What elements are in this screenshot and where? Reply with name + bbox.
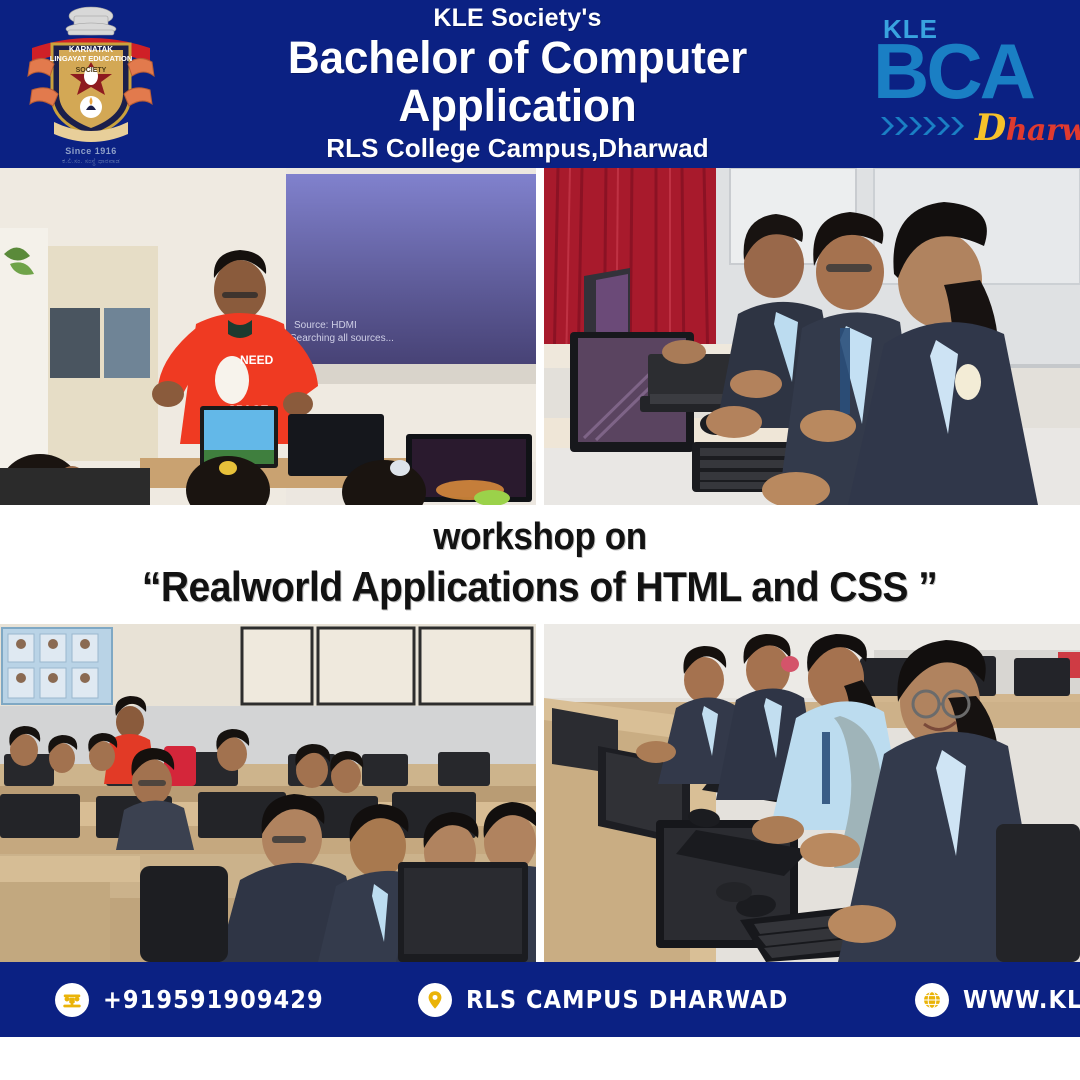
shirt-text-line1: NEED: [240, 353, 274, 367]
computer-lab-wide-image: [0, 624, 536, 962]
poster-canvas: KARNATAK LINGAYAT EDUCATION SOCIETY Sinc…: [0, 0, 1080, 1080]
photo-bottom-left: [0, 624, 536, 962]
bottom-white-strip: [0, 1037, 1080, 1080]
footer-contact-bar: +919591909429 RLS CAMPUS DHARWAD: [0, 962, 1080, 1037]
bca-logo-dharwad-text: Dharwad: [975, 110, 1080, 146]
crest-ring-mid: LINGAYAT EDUCATION: [50, 54, 133, 63]
footer-phone-label: +919591909429: [103, 985, 324, 1014]
footer-phone-item[interactable]: +919591909429: [55, 983, 348, 1017]
bca-logo-bca-text: BCA: [873, 32, 1033, 110]
workshop-topic: “Realworld Applications of HTML and CSS …: [142, 564, 937, 610]
campus-name: RLS College Campus,Dharwad: [180, 133, 855, 164]
students-at-computers-image: [544, 168, 1080, 505]
page-title: Bachelor of Computer Application: [187, 34, 849, 131]
footer-website-item[interactable]: WWW.KLEBCADWD.COM: [915, 983, 1080, 1017]
classroom-presentation-image: Source: HDMI Searching all sources... NE: [0, 168, 536, 505]
chevron-right-icon: [881, 114, 971, 138]
workshop-title-band: workshop on “Realworld Applications of H…: [0, 505, 1080, 624]
projector-source-text: Source: HDMI: [294, 320, 357, 331]
crest-icon: KARNATAK LINGAYAT EDUCATION SOCIETY: [26, 4, 156, 144]
projector-searching-text: Searching all sources...: [290, 333, 394, 344]
crest-ring-label: SOCIETY: [76, 67, 107, 74]
footer-website-label: WWW.KLEBCADWD.COM: [963, 985, 1080, 1014]
phone-icon: [55, 983, 89, 1017]
dharwad-rest: harwad: [1006, 113, 1080, 148]
photo-bottom-right: [544, 624, 1080, 962]
dharwad-initial: D: [975, 107, 1006, 149]
globe-icon: [915, 983, 949, 1017]
workshop-label: workshop on: [433, 518, 646, 558]
header-title-block: KLE Society's Bachelor of Computer Appli…: [180, 4, 865, 164]
bca-dharwad-logo: KLE BCA Dharwad: [865, 0, 1080, 168]
photo-top-left: Source: HDMI Searching all sources... NE: [0, 168, 536, 505]
crest-ring-top: KARNATAK: [69, 45, 113, 54]
crest-kannada-motto: ಕ.ಲಿ.ಸಂ. ಸಂಸ್ಥೆ ಧಾರವಾಡ: [20, 158, 162, 166]
society-name: KLE Society's: [180, 4, 855, 33]
header-bar: KARNATAK LINGAYAT EDUCATION SOCIETY Sinc…: [0, 0, 1080, 168]
location-pin-icon: [418, 983, 452, 1017]
kle-crest-logo: KARNATAK LINGAYAT EDUCATION SOCIETY Sinc…: [0, 0, 180, 168]
photo-top-right: [544, 168, 1080, 505]
footer-location-item[interactable]: RLS CAMPUS DHARWAD: [418, 983, 824, 1017]
female-students-lab-image: [544, 624, 1080, 962]
crest-since-label: Since 1916: [26, 146, 156, 156]
footer-location-label: RLS CAMPUS DHARWAD: [466, 985, 788, 1014]
